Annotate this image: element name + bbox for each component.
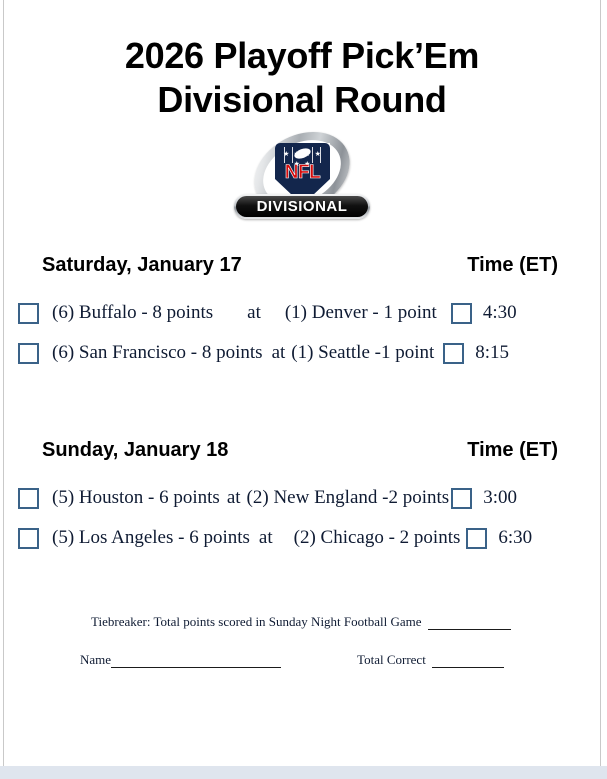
pickem-sheet: 2026 Playoff Pick’Em Divisional Round ★ … <box>4 0 600 766</box>
nfl-divisional-logo: ★ ★ ★ ★ ★ ★ NFL DIVISIONAL <box>222 134 382 226</box>
page-title-line-2: Divisional Round <box>4 78 600 122</box>
total-correct-row: Total Correct <box>357 652 504 668</box>
page: 2026 Playoff Pick’Em Divisional Round ★ … <box>0 0 607 779</box>
day-header-sunday: Sunday, January 18 Time (ET) <box>4 439 600 462</box>
page-title: 2026 Playoff Pick’Em Divisional Round <box>4 0 600 122</box>
game-time: 8:15 <box>475 342 519 364</box>
divisional-banner-text: DIVISIONAL <box>236 196 368 217</box>
away-team-label: (6) Buffalo - 8 points <box>52 302 213 324</box>
pick-checkbox-away[interactable] <box>18 343 39 364</box>
game-time: 4:30 <box>483 302 527 324</box>
game-row: (6) San Francisco - 8 points at (1) Seat… <box>4 333 600 373</box>
name-input[interactable] <box>111 654 281 668</box>
game-time: 6:30 <box>498 527 542 549</box>
tiebreaker-label: Tiebreaker: Total points scored in Sunda… <box>91 614 422 630</box>
pick-checkbox-home[interactable] <box>466 528 487 549</box>
name-row: Name Total Correct <box>60 652 544 668</box>
game-time: 3:00 <box>483 487 527 509</box>
section-divider-gap <box>4 373 600 439</box>
day-label: Sunday, January 18 <box>42 439 228 462</box>
divisional-banner: DIVISIONAL <box>234 194 370 219</box>
page-border-right <box>600 0 601 766</box>
total-correct-label: Total Correct <box>357 652 426 668</box>
at-separator: at <box>259 527 273 549</box>
footer: Tiebreaker: Total points scored in Sunda… <box>4 614 600 668</box>
pick-checkbox-away[interactable] <box>18 488 39 509</box>
home-team-label: (1) Denver - 1 point <box>285 302 437 324</box>
game-row: (6) Buffalo - 8 points at (1) Denver - 1… <box>4 293 600 333</box>
home-team-label: (2) New England -2 points <box>247 487 450 509</box>
total-correct-input[interactable] <box>432 654 504 668</box>
name-label: Name <box>80 652 111 668</box>
game-row: (5) Los Angeles - 6 points at (2) Chicag… <box>4 518 600 558</box>
game-row: (5) Houston - 6 points at (2) New Englan… <box>4 478 600 518</box>
pick-checkbox-away[interactable] <box>18 528 39 549</box>
away-team-label: (5) Houston - 6 points <box>52 487 220 509</box>
tiebreaker-input[interactable] <box>428 616 511 630</box>
page-title-line-1: 2026 Playoff Pick’Em <box>125 35 479 76</box>
tiebreaker-row: Tiebreaker: Total points scored in Sunda… <box>60 614 544 630</box>
day-label: Saturday, January 17 <box>42 254 242 277</box>
home-team-label: (2) Chicago - 2 points <box>294 527 461 549</box>
logo-container: ★ ★ ★ ★ ★ ★ NFL DIVISIONAL <box>4 134 600 226</box>
time-column-header: Time (ET) <box>467 254 562 277</box>
section-saturday: Saturday, January 17 Time (ET) (6) Buffa… <box>4 254 600 373</box>
away-team-label: (5) Los Angeles - 6 points <box>52 527 250 549</box>
at-separator: at <box>227 487 241 509</box>
day-header-saturday: Saturday, January 17 Time (ET) <box>4 254 600 277</box>
time-column-header: Time (ET) <box>467 439 562 462</box>
page-bottom-strip <box>0 766 607 779</box>
at-separator: at <box>272 342 286 364</box>
pick-checkbox-home[interactable] <box>443 343 464 364</box>
games-saturday: (6) Buffalo - 8 points at (1) Denver - 1… <box>4 293 600 373</box>
section-sunday: Sunday, January 18 Time (ET) (5) Houston… <box>4 439 600 558</box>
at-separator: at <box>247 302 261 324</box>
away-team-label: (6) San Francisco - 8 points <box>52 342 263 364</box>
pick-checkbox-home[interactable] <box>451 303 472 324</box>
shield-nfl-text: NFL <box>275 163 330 182</box>
pick-checkbox-home[interactable] <box>451 488 472 509</box>
home-team-label: (1) Seattle -1 point <box>291 342 434 364</box>
pick-checkbox-away[interactable] <box>18 303 39 324</box>
games-sunday: (5) Houston - 6 points at (2) New Englan… <box>4 478 600 558</box>
